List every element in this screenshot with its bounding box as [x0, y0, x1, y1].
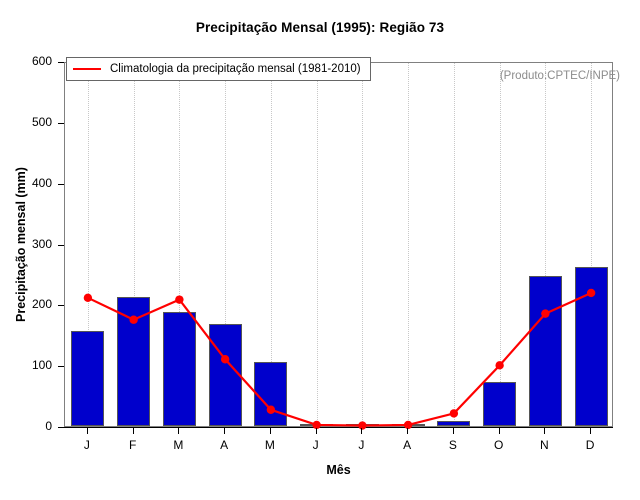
x-tick-mark [361, 428, 362, 434]
line-marker-s-8 [450, 409, 458, 417]
line-marker-m-2 [175, 295, 183, 303]
x-tick-label-9: O [479, 438, 519, 452]
x-tick-mark [270, 428, 271, 434]
x-tick-label-3: A [204, 438, 244, 452]
line-marker-j-6 [358, 421, 366, 429]
legend: Climatologia da precipitação mensal (198… [66, 57, 371, 81]
x-tick-label-10: N [524, 438, 564, 452]
y-tick-label: 200 [32, 297, 52, 311]
y-tick-label: 400 [32, 176, 52, 190]
page-title: Precipitação Mensal (1995): Região 73 [0, 20, 640, 35]
y-tick-mark [58, 366, 64, 367]
legend-item-label: Climatologia da precipitação mensal (198… [110, 63, 361, 75]
y-tick-mark [58, 427, 64, 428]
line-marker-j-5 [312, 421, 320, 429]
y-tick-label: 600 [32, 54, 52, 68]
line-marker-a-3 [221, 355, 229, 363]
x-tick-label-4: M [250, 438, 290, 452]
x-tick-mark [590, 428, 591, 434]
x-tick-mark [499, 428, 500, 434]
x-tick-label-8: S [433, 438, 473, 452]
x-tick-mark [87, 428, 88, 434]
line-marker-o-9 [495, 361, 503, 369]
x-tick-label-0: J [67, 438, 107, 452]
y-tick-mark [58, 123, 64, 124]
climatology-polyline [88, 293, 591, 426]
watermark-text: (Produto:CPTEC/INPE) [500, 70, 620, 82]
y-tick-label: 500 [32, 115, 52, 129]
line-marker-f-1 [129, 316, 137, 324]
x-axis-title: Mês [64, 463, 613, 477]
y-tick-mark [58, 184, 64, 185]
x-tick-label-2: M [158, 438, 198, 452]
x-tick-mark [316, 428, 317, 434]
y-axis-title: Precipitação mensal (mm) [14, 62, 34, 427]
x-tick-label-5: J [296, 438, 336, 452]
x-tick-label-7: A [387, 438, 427, 452]
x-tick-mark [407, 428, 408, 434]
line-marker-a-7 [404, 421, 412, 429]
line-marker-d-11 [587, 289, 595, 297]
x-tick-mark [544, 428, 545, 434]
climatology-markers [84, 289, 596, 430]
red-line-swatch [73, 68, 101, 70]
x-tick-mark [133, 428, 134, 434]
y-tick-mark [58, 305, 64, 306]
y-tick-mark [58, 245, 64, 246]
climatology-line-series [65, 63, 614, 428]
x-tick-label-6: J [341, 438, 381, 452]
y-tick-label: 300 [32, 237, 52, 251]
x-tick-label-1: F [113, 438, 153, 452]
line-marker-n-10 [541, 309, 549, 317]
x-tick-mark [453, 428, 454, 434]
plot-area [64, 62, 613, 427]
y-tick-label: 100 [32, 358, 52, 372]
chart-figure: Precipitação Mensal (1995): Região 73 01… [0, 0, 640, 500]
x-tick-mark [224, 428, 225, 434]
y-tick-mark [58, 62, 64, 63]
x-tick-mark [178, 428, 179, 434]
line-marker-m-4 [267, 406, 275, 414]
y-tick-label: 0 [45, 419, 52, 433]
line-marker-j-0 [84, 294, 92, 302]
x-tick-label-11: D [570, 438, 610, 452]
